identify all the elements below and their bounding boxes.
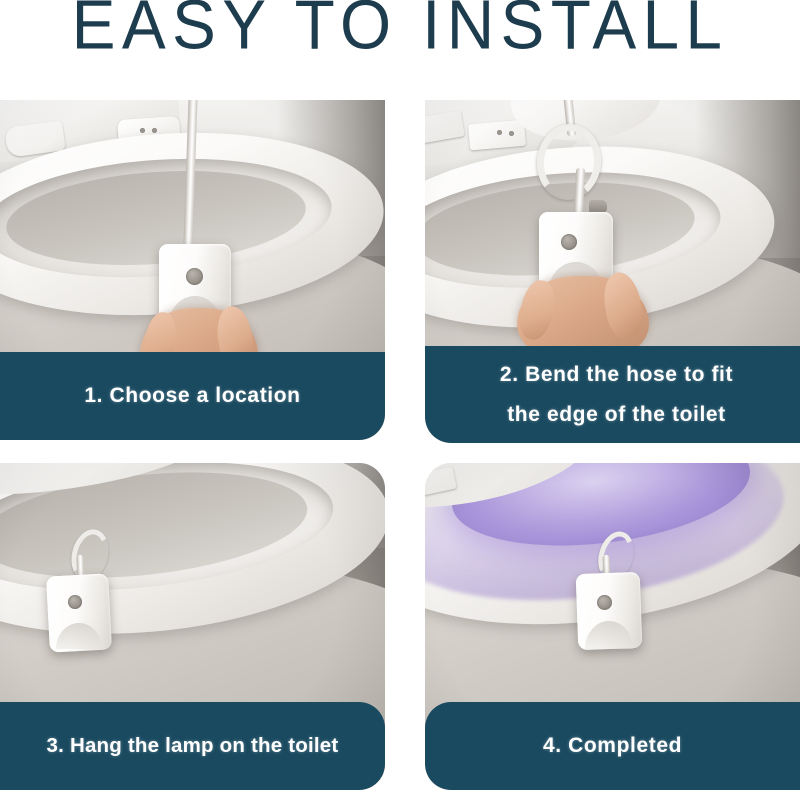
lamp-motion-sensor bbox=[561, 234, 577, 250]
caption-line: 1. Choose a location bbox=[84, 376, 300, 416]
step-4-caption: 4. Completed bbox=[425, 702, 800, 790]
step-3-caption: 3. Hang the lamp on the toilet bbox=[0, 702, 385, 790]
hinge-bolt-1 bbox=[497, 130, 502, 135]
caption-line: the edge of the toilet bbox=[507, 395, 726, 435]
step-panel-3: 3. Hang the lamp on the toilet bbox=[0, 463, 385, 790]
step-panel-1: 1. Choose a location bbox=[0, 100, 385, 440]
step-panel-2: 2. Bend the hose to fit the edge of the … bbox=[425, 100, 800, 443]
lamp-motion-sensor bbox=[68, 595, 82, 609]
step-1-caption: 1. Choose a location bbox=[0, 352, 385, 440]
hinge-bolt-1 bbox=[140, 128, 145, 133]
toilet-seat-hinge-right bbox=[468, 120, 526, 151]
hinge-bolt-2 bbox=[509, 131, 514, 136]
caption-line: 2. Bend the hose to fit bbox=[500, 355, 733, 395]
lamp-motion-sensor bbox=[597, 595, 612, 610]
step-panel-4: 4. Completed bbox=[425, 463, 800, 790]
caption-line: 4. Completed bbox=[543, 726, 682, 766]
caption-line: 3. Hang the lamp on the toilet bbox=[47, 726, 339, 766]
page-title: EASY TO INSTALL bbox=[0, 0, 800, 70]
infographic-page: EASY TO INSTALL bbox=[0, 0, 800, 800]
step-2-caption: 2. Bend the hose to fit the edge of the … bbox=[425, 346, 800, 443]
lamp-motion-sensor bbox=[186, 268, 203, 285]
hinge-bolt-2 bbox=[152, 128, 157, 133]
